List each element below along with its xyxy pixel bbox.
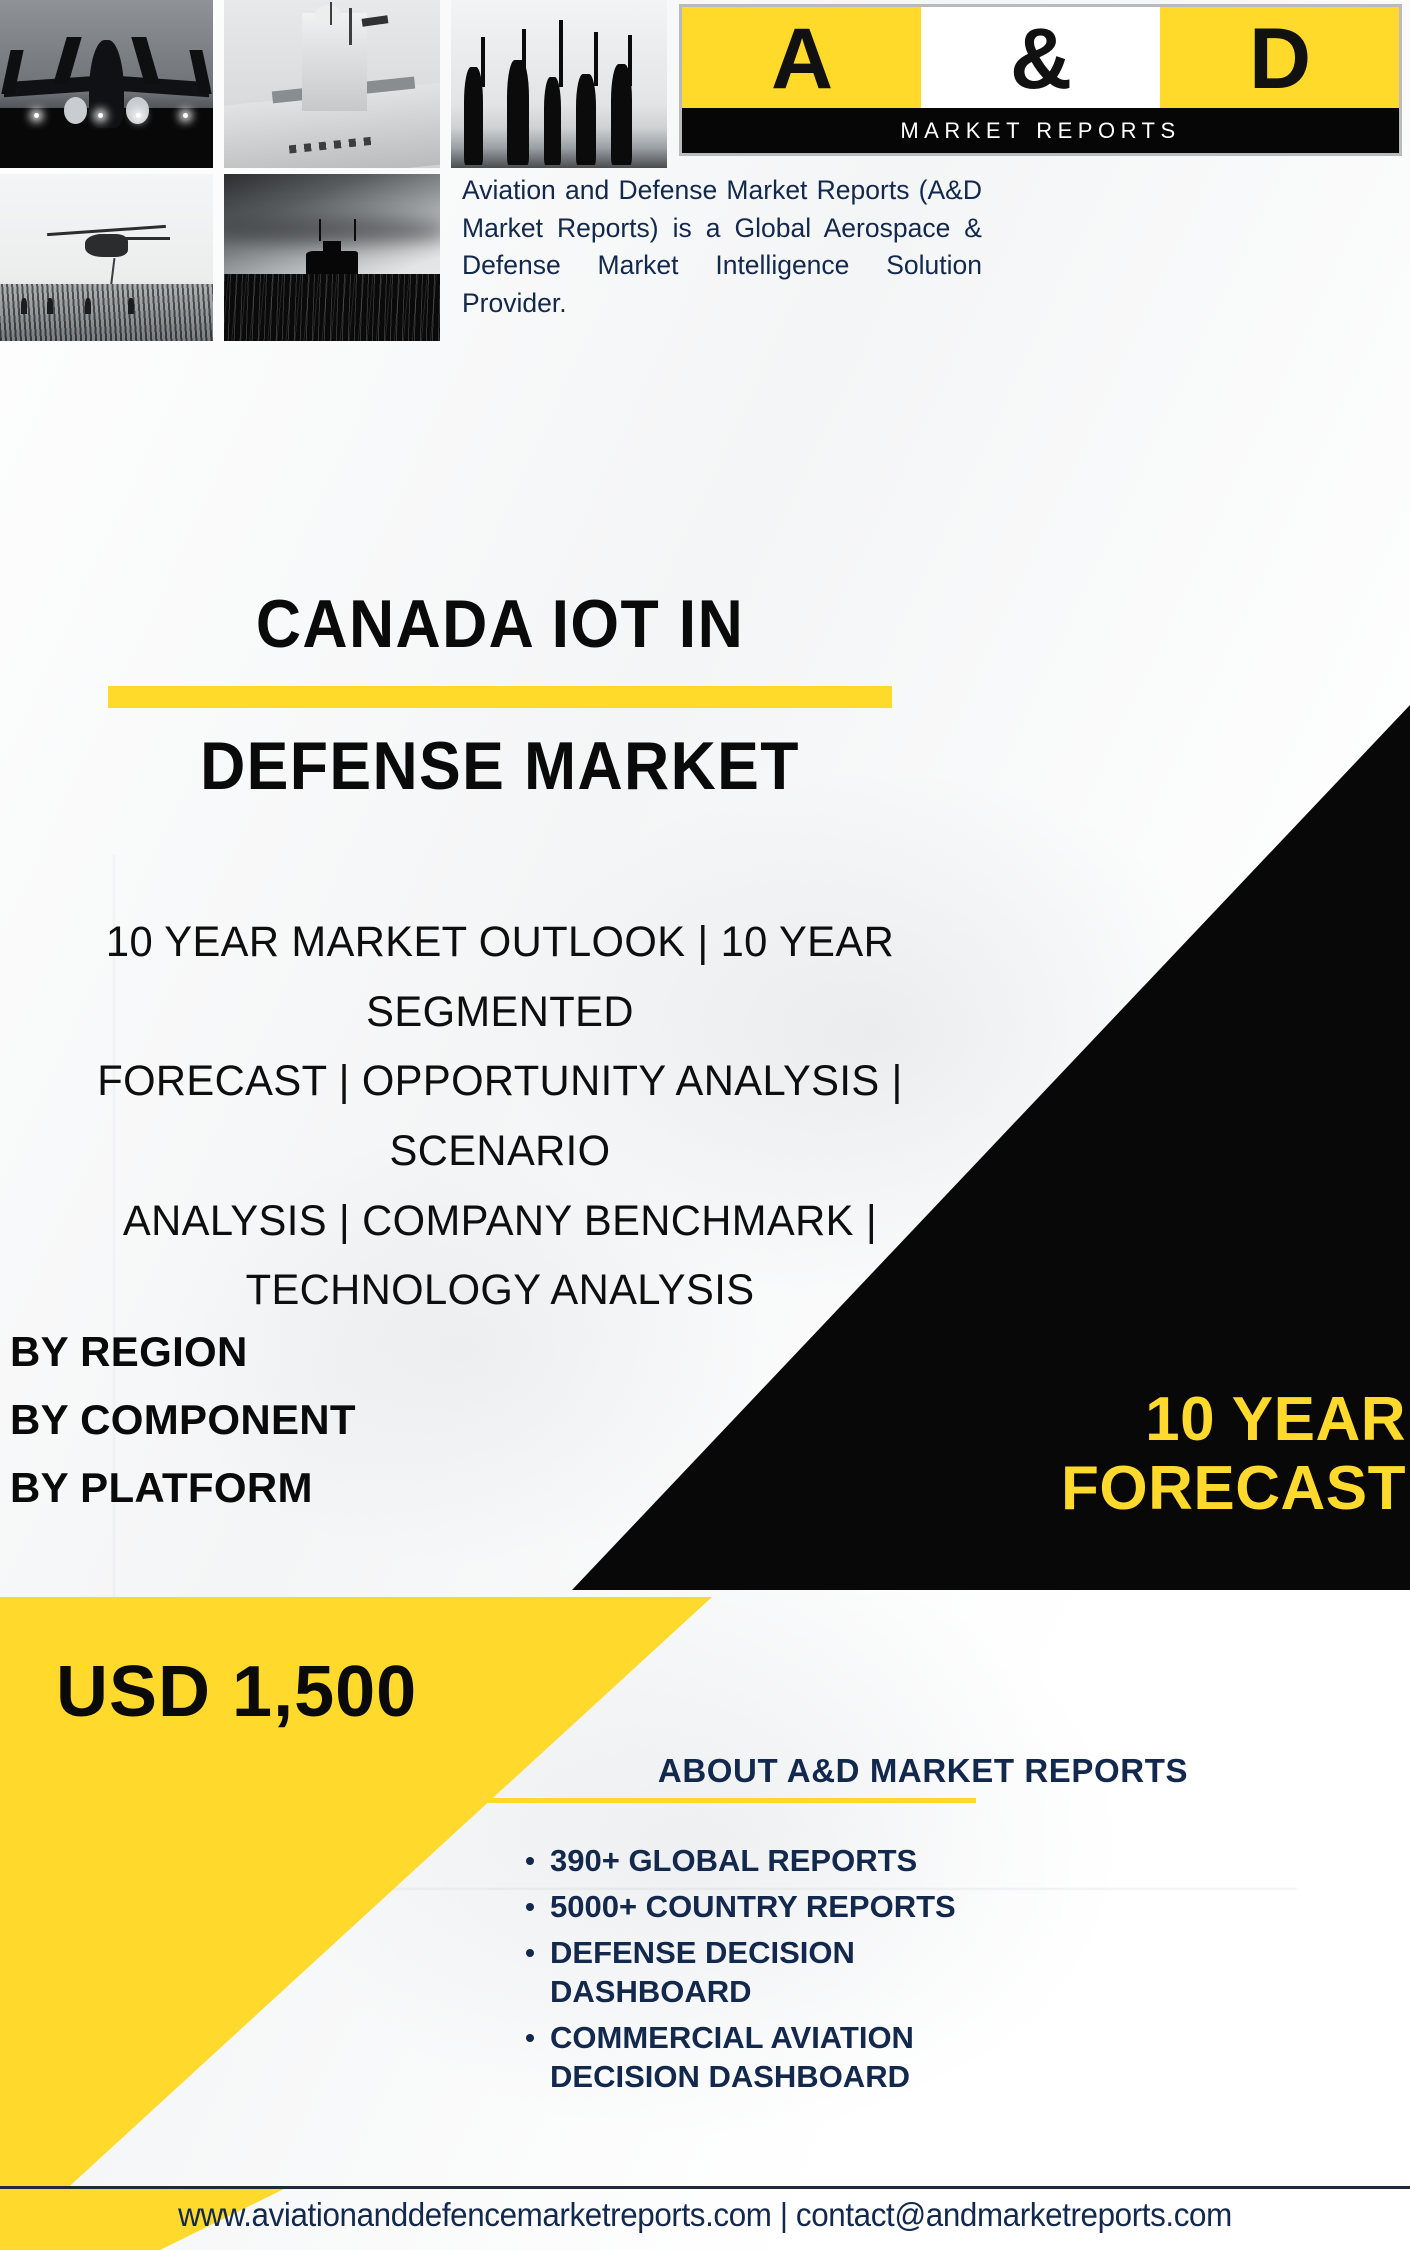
logo-letters: A & D	[682, 7, 1399, 111]
feature-line-3: ANALYSIS | COMPANY BENCHMARK |	[31, 1187, 970, 1257]
logo-subtitle-bar: MARKET REPORTS	[682, 108, 1399, 153]
logo-letter-a: A	[682, 7, 921, 111]
footer-divider	[0, 2186, 1410, 2189]
title-yellow-rule	[108, 686, 892, 708]
photo-warship	[224, 0, 440, 168]
photo-helicopter	[0, 174, 213, 341]
feature-line-2: FORECAST | OPPORTUNITY ANALYSIS | SCENAR…	[31, 1047, 970, 1186]
about-yellow-rule	[460, 1798, 976, 1803]
feature-line-1: 10 YEAR MARKET OUTLOOK | 10 YEAR SEGMENT…	[31, 908, 970, 1047]
about-bullet-item: COMMERCIAL AVIATION DECISION DASHBOARD	[520, 2018, 990, 2096]
report-title-line-1: CANADA IOT IN	[40, 588, 960, 660]
segmentation-list: BY REGION BY COMPONENT BY PLATFORM	[10, 1318, 356, 1522]
about-bullet-list: 390+ GLOBAL REPORTS 5000+ COUNTRY REPORT…	[520, 1841, 1388, 2096]
feature-line-4: TECHNOLOGY ANALYSIS	[31, 1256, 970, 1326]
segment-by-platform: BY PLATFORM	[10, 1454, 356, 1522]
segment-by-component: BY COMPONENT	[10, 1386, 356, 1454]
about-heading: ABOUT A&D MARKET REPORTS	[458, 1752, 1388, 1790]
report-title: CANADA IOT IN DEFENSE MARKET	[0, 588, 1000, 802]
price-label: USD 1,500	[56, 1656, 417, 1728]
logo-letter-d: D	[1160, 7, 1399, 111]
forecast-line-2: FORECAST	[786, 1454, 1406, 1523]
report-title-line-2: DEFENSE MARKET	[40, 730, 960, 802]
forecast-line-1: 10 YEAR	[786, 1385, 1406, 1454]
poster-root: A & D MARKET REPORTS Aviation and Defens…	[0, 0, 1410, 2250]
forecast-badge: 10 YEAR FORECAST	[786, 1385, 1406, 1524]
photo-soldiers	[451, 0, 667, 168]
photo-fighter-jet	[0, 0, 213, 168]
about-bullet-item: 390+ GLOBAL REPORTS	[520, 1841, 990, 1880]
segment-by-region: BY REGION	[10, 1318, 356, 1386]
company-intro-paragraph: Aviation and Defense Market Reports (A&D…	[462, 172, 982, 323]
logo-subtitle-text: MARKET REPORTS	[900, 118, 1180, 144]
about-bullet-item: 5000+ COUNTRY REPORTS	[520, 1887, 990, 1926]
footer-contact[interactable]: www.aviationanddefencemarketreports.com …	[35, 2196, 1375, 2234]
about-bullet-item: DEFENSE DECISION DASHBOARD	[520, 1933, 990, 2011]
logo-ampersand: &	[921, 7, 1160, 111]
about-panel: ABOUT A&D MARKET REPORTS 390+ GLOBAL REP…	[458, 1752, 1388, 2103]
brand-logo: A & D MARKET REPORTS	[679, 4, 1402, 156]
report-features: 10 YEAR MARKET OUTLOOK | 10 YEAR SEGMENT…	[16, 908, 984, 1326]
photo-armored-vehicle	[224, 174, 440, 341]
